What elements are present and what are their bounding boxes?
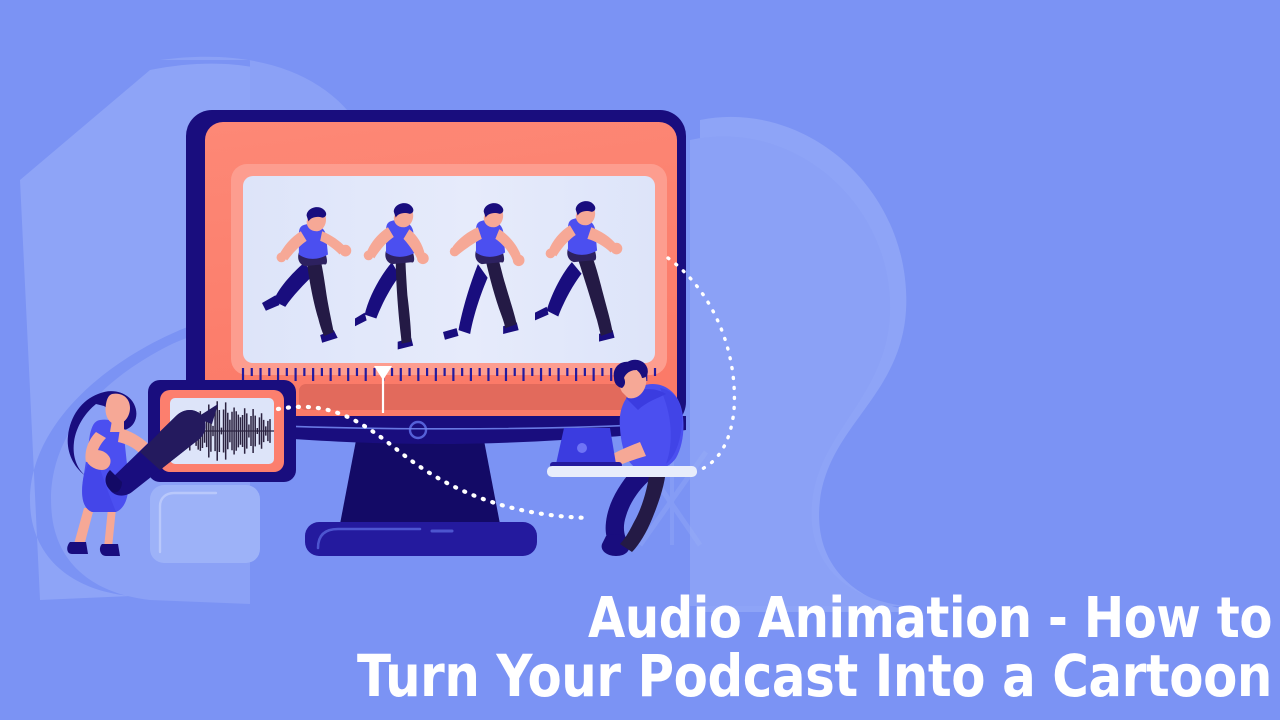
desk-surface xyxy=(547,466,697,477)
timeline-track[interactable] xyxy=(299,384,629,410)
woman-shoe-back xyxy=(100,544,120,556)
monitor-stand-neck xyxy=(340,430,500,524)
illustration-artboard xyxy=(0,0,1280,720)
woman-shoe-front xyxy=(67,542,88,554)
laptop-logo-icon xyxy=(577,443,587,453)
hero-banner: Audio Animation - How to Turn Your Podca… xyxy=(0,0,1280,720)
monitor-stand-base xyxy=(305,522,537,556)
waveform-monitor-reflection xyxy=(150,485,260,563)
